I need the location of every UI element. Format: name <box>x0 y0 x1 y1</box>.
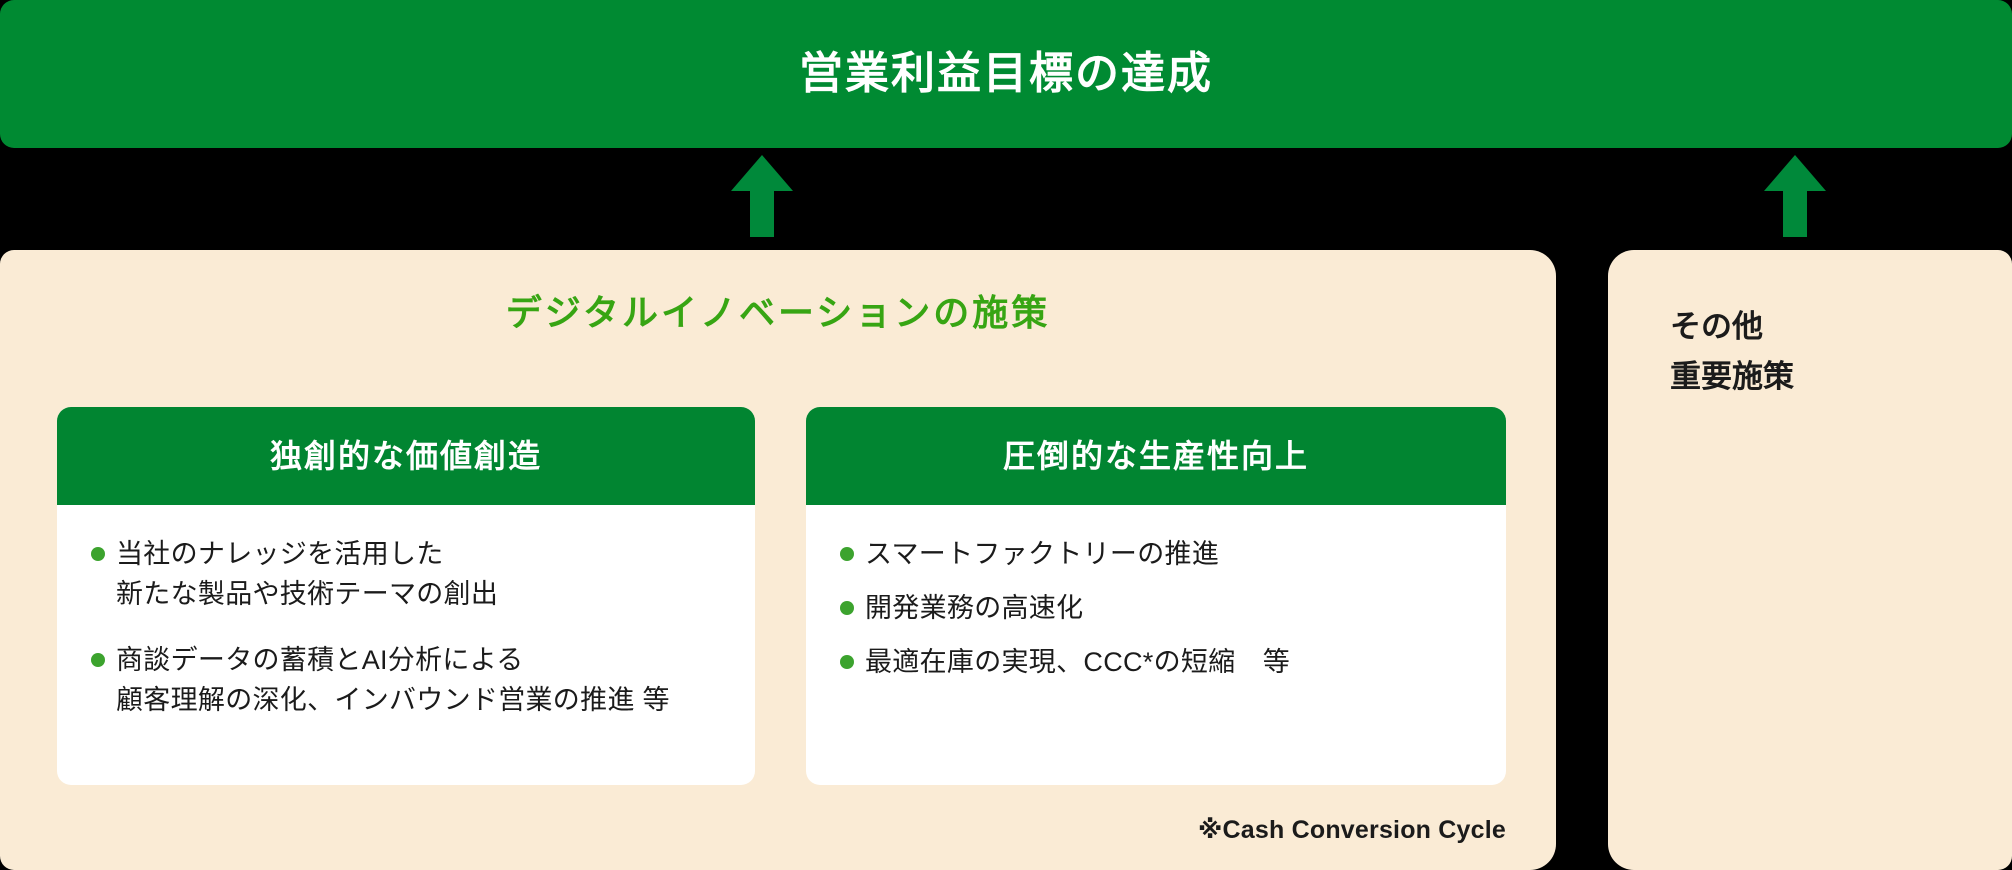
other-measures-panel-title: その他 重要施策 <box>1670 302 1794 402</box>
card-productivity-header: 圧倒的な生産性向上 <box>806 407 1506 505</box>
list-item-text: スマートファクトリーの推進 <box>865 535 1219 575</box>
list-item-text: 当社のナレッジを活用した 新たな製品や技術テーマの創出 <box>116 535 498 615</box>
list-item: 開発業務の高速化 <box>840 589 1472 629</box>
bullet-dot-icon <box>91 653 105 667</box>
card-value-creation-body: 当社のナレッジを活用した 新たな製品や技術テーマの創出 商談データの蓄積とAI分… <box>57 505 755 721</box>
list-item-text: 最適在庫の実現、CCC*の短縮 等 <box>865 643 1290 683</box>
list-item: 当社のナレッジを活用した 新たな製品や技術テーマの創出 <box>91 535 721 615</box>
list-item: スマートファクトリーの推進 <box>840 535 1472 575</box>
goal-banner-title: 営業利益目標の達成 <box>799 52 1213 96</box>
arrow-shaft <box>1783 189 1807 237</box>
arrow-head <box>1764 155 1826 191</box>
bullet-dot-icon <box>840 601 854 615</box>
card-productivity-body: スマートファクトリーの推進 開発業務の高速化 最適在庫の実現、CCC*の短縮 等 <box>806 505 1506 683</box>
card-value-creation-header: 独創的な価値創造 <box>57 407 755 505</box>
arrow-shaft <box>750 189 774 237</box>
list-item: 商談データの蓄積とAI分析による 顧客理解の深化、インバウンド営業の推進 等 <box>91 641 721 721</box>
goal-banner: 営業利益目標の達成 <box>0 0 2012 148</box>
footnote-ccc: ※Cash Conversion Cycle <box>0 818 1506 843</box>
list-item-text: 商談データの蓄積とAI分析による 顧客理解の深化、インバウンド営業の推進 等 <box>116 641 670 721</box>
list-item: 最適在庫の実現、CCC*の短縮 等 <box>840 643 1472 683</box>
arrow-head <box>731 155 793 191</box>
card-value-creation-header-text: 独創的な価値創造 <box>270 440 542 472</box>
bullet-dot-icon <box>840 655 854 669</box>
card-productivity: 圧倒的な生産性向上 スマートファクトリーの推進 開発業務の高速化 最適在庫の実現… <box>806 407 1506 785</box>
other-measures-panel: その他 重要施策 <box>1608 250 2012 870</box>
card-value-creation: 独創的な価値創造 当社のナレッジを活用した 新たな製品や技術テーマの創出 商談デ… <box>57 407 755 785</box>
digital-innovation-panel-title: デジタルイノベーションの施策 <box>0 291 1556 334</box>
digital-innovation-panel: デジタルイノベーションの施策 独創的な価値創造 当社のナレッジを活用した 新たな… <box>0 250 1556 870</box>
arrow-up-icon-digital <box>731 155 793 237</box>
bullet-dot-icon <box>840 547 854 561</box>
arrow-up-icon-other <box>1764 155 1826 237</box>
list-item-text: 開発業務の高速化 <box>865 589 1083 629</box>
bullet-dot-icon <box>91 547 105 561</box>
card-productivity-header-text: 圧倒的な生産性向上 <box>1003 440 1309 472</box>
